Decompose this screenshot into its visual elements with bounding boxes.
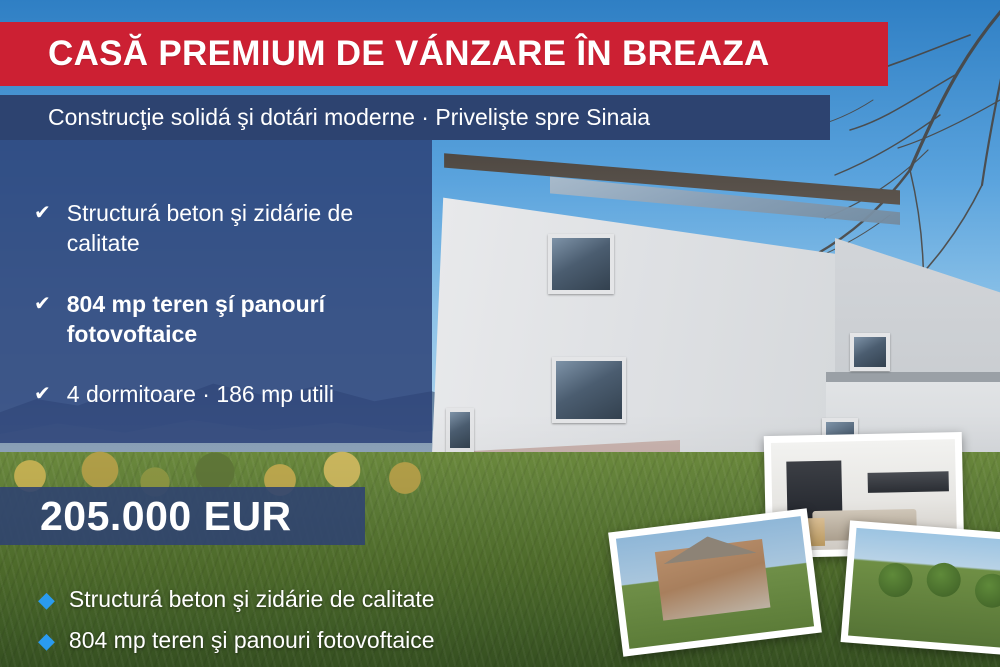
bottom-feature-list: ◆ Structurá beton şi zidárie de calitate… [38,586,435,667]
check-icon: ✔ [34,289,51,316]
thumbnail-construction[interactable] [608,508,822,656]
lower-wing-parapet [826,372,1000,382]
window-side-upper [850,333,890,371]
tree-shape [974,572,1000,609]
thumbnail-garden[interactable] [841,520,1000,657]
price-banner: 205.000 EUR [0,487,365,545]
feature-label: Structurá beton şi zidárie de calitate [67,198,397,259]
feature-item: ✔ 804 mp teren şí panourí fotovoftaice [34,289,432,350]
bottom-feature-label: Structurá beton şi zidárie de calitate [69,586,435,613]
check-icon: ◆ [38,630,55,652]
price-value: 205.000 EUR [0,493,292,540]
feature-label: 4 dormitoare · 186 mp utili [67,379,334,409]
tree-shape [877,562,914,599]
thumbnail-construction-image [616,516,814,649]
check-icon: ✔ [34,379,51,406]
subtitle-banner: Construcţie solidá şi dotári moderne · P… [0,95,830,140]
window-upper-left [548,234,614,294]
thumbnail-garden-image [848,528,1000,650]
feature-list: ✔ Structurá beton şi zidárie de calitate… [0,140,432,410]
feature-item: ✔ 4 dormitoare · 186 mp utili [34,379,432,409]
window-lower-left [552,357,626,423]
title-banner: CASĂ PREMIUM DE VÁNZARE ÎN BREAZA [0,22,888,86]
feature-label: 804 mp teren şí panourí fotovoftaice [67,289,397,350]
page-title: CASĂ PREMIUM DE VÁNZARE ÎN BREAZA [0,34,770,74]
bottom-feature-item: ◆ 804 mp teren şi panouri fotovoftaice [38,627,435,654]
bottom-feature-item: ◆ Structurá beton şi zidárie de calitate [38,586,435,613]
check-icon: ◆ [38,589,55,611]
tree-shape [926,562,963,599]
feature-panel: ✔ Structurá beton şi zidárie de calitate… [0,140,432,443]
bottom-feature-label: 804 mp teren şi panouri fotovoftaice [69,627,435,654]
page-subtitle: Construcţie solidá şi dotári moderne · P… [0,104,650,131]
feature-item: ✔ Structurá beton şi zidárie de calitate [34,198,432,259]
check-icon: ✔ [34,198,51,225]
advertisement-banner: CASĂ PREMIUM DE VÁNZARE ÎN BREAZA Constr… [0,0,1000,667]
